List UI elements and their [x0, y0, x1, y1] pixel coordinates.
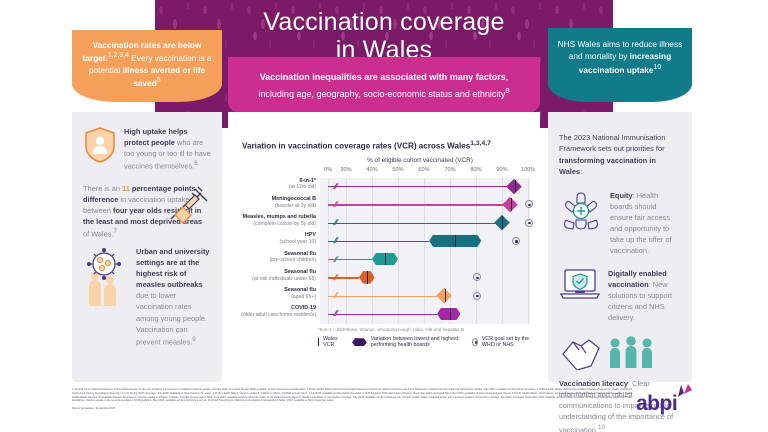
left-block-measles: Urban and university settings are at the… [83, 246, 211, 347]
x-tick-90: 90% [496, 167, 507, 173]
right-item-digital: Digitally enabled vaccination: New solut… [559, 268, 681, 324]
chart-title-text: Variation in vaccination coverage rates … [242, 142, 470, 151]
wales-vcr-marker [445, 289, 446, 302]
right-item-0-rest: : Health boards should ensure fair acces… [610, 191, 672, 256]
legend-bar-icon [318, 338, 319, 346]
right-item-2-strong: Vaccination literacy [559, 379, 628, 388]
left-block-2-strong: Urban and university settings are at the… [136, 247, 210, 289]
chart-row-label: HPV(school year 10) [238, 232, 316, 245]
left-block-uptake: High uptake helps protect people who are… [83, 126, 211, 172]
row-spine [328, 204, 505, 205]
framework-intro-post: : [580, 167, 582, 176]
row-label-detail: (at risk individuals under 65) [238, 276, 316, 282]
x-tick-50: 50% [392, 167, 403, 173]
chart-legend: Wales VCR Variation between lowest and h… [318, 336, 534, 349]
legend-item-variation: Variation between lowest and highest per… [352, 336, 462, 349]
ribbon-center-strong: Vaccination inequalities are associated … [260, 72, 506, 82]
row-label-name: Meningococcal B [238, 196, 316, 203]
ribbon-left-strong2: illness averted or life saved [123, 65, 206, 88]
ribbon-left: Vaccination rates are below target.1,2,3… [72, 30, 222, 102]
chart-row: Meningococcal B(booster at 2y old)// [320, 196, 530, 214]
page-title-line1: Vaccination coverage [155, 8, 613, 36]
row-spine [328, 186, 510, 187]
chart-panel: Variation in vaccination coverage rates … [228, 112, 540, 382]
chart-x-axis-label: % of eligible cohort vaccinated (VCR) [234, 157, 534, 164]
x-tick-100: 100% [521, 167, 535, 173]
chart-x-axis: 0%30%40%50%60%70%80%90%100% [320, 167, 530, 178]
chart-row-label: Measles, mumps and rubella(complete cour… [238, 214, 316, 227]
right-item-equity: Equity: Health boards should ensure fair… [559, 190, 681, 257]
chart-row-label: Seasonal flu(pre-school children) [238, 251, 316, 264]
logo-spark-icon [676, 384, 694, 403]
laptop-shield-icon [559, 268, 601, 324]
x-tick-40: 40% [366, 167, 377, 173]
row-label-name: Measles, mumps and rubella [238, 214, 316, 221]
page-title: Vaccination coverage in Wales [155, 8, 613, 64]
row-label-detail: (aged 65+) [238, 294, 316, 300]
equity-hands-icon [559, 190, 603, 257]
x-tick-80: 80% [470, 167, 481, 173]
row-label-detail: (older adult care home residents) [238, 312, 316, 318]
chart-title: Variation in vaccination coverage rates … [242, 140, 534, 151]
wales-vcr-marker [455, 235, 456, 248]
left-block-1-pre: There is an [83, 184, 122, 193]
chart-row: 6-in-1*(at 12m old)// [320, 178, 530, 196]
syringe-icon [165, 185, 211, 230]
legend-label-1: Variation between lowest and highest per… [371, 336, 462, 349]
chart-row-label: Seasonal flu(at risk individuals under 6… [238, 269, 316, 282]
row-label-detail: (booster at 2y old) [238, 203, 316, 209]
row-label-detail: (at 12m old) [238, 184, 316, 190]
vcr-goal-marker [473, 292, 481, 300]
x-tick-0: 0% [324, 167, 332, 173]
chart-row-label: COVID-19(older adult care home residents… [238, 305, 316, 318]
references-text: 1 Senedd Cymru Welsh Parliament, Prevent… [72, 388, 632, 403]
chart-footnote: *6-in-1 = diphtheria, tetanus, whooping … [318, 327, 534, 332]
wales-vcr-marker [367, 271, 368, 284]
row-label-name: COVID-19 [238, 305, 316, 312]
legend-item-wales-vcr: Wales VCR [318, 336, 342, 349]
chart-row-label: Meningococcal B(booster at 2y old) [238, 196, 316, 209]
row-label-name: 6-in-1* [238, 178, 316, 185]
ribbon-center-sup: 8 [505, 86, 509, 95]
ribbon-right: NHS Wales aims to reduce illness and mor… [548, 28, 692, 102]
row-spine [328, 223, 498, 224]
chart-row: COVID-19(older adult care home residents… [320, 305, 530, 323]
wales-vcr-marker [502, 216, 503, 229]
left-block-1-num: 11 [122, 184, 130, 193]
literacy-people-icon [559, 334, 681, 375]
row-label-detail: (pre-school children) [238, 257, 316, 263]
chart-row: Seasonal flu(at risk individuals under 6… [320, 269, 530, 287]
variation-band [437, 308, 460, 321]
chart-plot: 6-in-1*(at 12m old)//Meningococcal B(boo… [320, 178, 530, 324]
chart-title-sup: 1,3,4,7 [470, 140, 491, 147]
chart-row: Seasonal flu(aged 65+)// [320, 287, 530, 305]
wales-vcr-marker [385, 253, 386, 266]
left-block-1-sup: 7 [114, 228, 117, 235]
chart-row: HPV(school year 10)// [320, 232, 530, 250]
legend-item-goal: VCR goal set by the WHO or NHS [472, 336, 534, 349]
variation-diamond [436, 288, 451, 303]
wales-vcr-marker [450, 308, 451, 321]
ribbon-right-sup: 10 [654, 64, 662, 71]
wales-vcr-marker [511, 198, 512, 211]
x-tick-70: 70% [444, 167, 455, 173]
legend-band-icon [352, 338, 367, 346]
left-block-2-rest: due to lower vaccination rates among you… [136, 291, 207, 346]
infographic-page: Vaccination coverage in Wales Vaccinatio… [0, 0, 768, 432]
left-block-1-rest: of Wales. [83, 230, 114, 239]
chart-row: Seasonal flu(pre-school children)// [320, 251, 530, 269]
chart-plot-area: 0%30%40%50%60%70%80%90%100% 6-in-1*(at 1… [240, 167, 534, 324]
wales-vcr-marker [515, 180, 516, 193]
goal-marker-icon [472, 338, 478, 346]
left-block-2-sup: 9 [192, 336, 195, 343]
row-spine [328, 241, 429, 242]
framework-intro-pre: The 2023 National Immunisation Framework… [559, 133, 665, 153]
row-label-name: Seasonal flu [238, 287, 316, 294]
framework-intro-strong: transforming vaccination in Wales [559, 156, 656, 176]
left-block-deprivation: There is an 11 percentage points differe… [83, 183, 211, 240]
row-label-name: HPV [238, 232, 316, 239]
references-block: 1 Senedd Cymru Welsh Parliament, Prevent… [72, 388, 632, 411]
right-item-0-strong: Equity [610, 191, 633, 200]
legend-label-0: Wales VCR [323, 336, 342, 349]
x-tick-60: 60% [418, 167, 429, 173]
chart-row: Measles, mumps and rubella(complete cour… [320, 214, 530, 232]
row-label-detail: (complete course by 5y old) [238, 221, 316, 227]
framework-intro: The 2023 National Immunisation Framework… [559, 132, 681, 178]
left-column: High uptake helps protect people who are… [72, 112, 222, 382]
vcr-goal-marker [473, 273, 481, 281]
row-label-name: Seasonal flu [238, 251, 316, 258]
vcr-goal-marker [525, 200, 533, 208]
right-column: The 2023 National Immunisation Framework… [548, 112, 692, 382]
row-label-name: Seasonal flu [238, 269, 316, 276]
variation-diamond [502, 197, 517, 212]
chart-row-label: Seasonal flu(aged 65+) [238, 287, 316, 300]
vcr-goal-marker [525, 219, 533, 227]
preparation-date: Date of preparation: September 2025 [72, 407, 632, 411]
vcr-goal-marker [512, 237, 520, 245]
left-block-0-sup: 6 [194, 160, 197, 167]
right-item-2-sup: 10 [598, 424, 605, 431]
right-item-literacy: Vaccination literacy: Clear information … [559, 334, 681, 432]
ribbon-left-sup2: 5 [157, 77, 161, 84]
row-label-detail: (school year 10) [238, 239, 316, 245]
row-spine [328, 314, 437, 315]
ribbon-left-sup1: 1,2,3,4 [108, 52, 129, 59]
virus-people-icon [83, 246, 129, 347]
shield-person-icon [83, 126, 117, 172]
row-spine [328, 296, 437, 297]
chart-row-label: 6-in-1*(at 12m old) [238, 178, 316, 191]
x-tick-30: 30% [340, 167, 351, 173]
ribbon-center: Vaccination inequalities are associated … [228, 57, 540, 119]
legend-label-2: VCR goal set by the WHO or NHS [482, 336, 534, 349]
abpi-logo: abpi [636, 393, 696, 414]
